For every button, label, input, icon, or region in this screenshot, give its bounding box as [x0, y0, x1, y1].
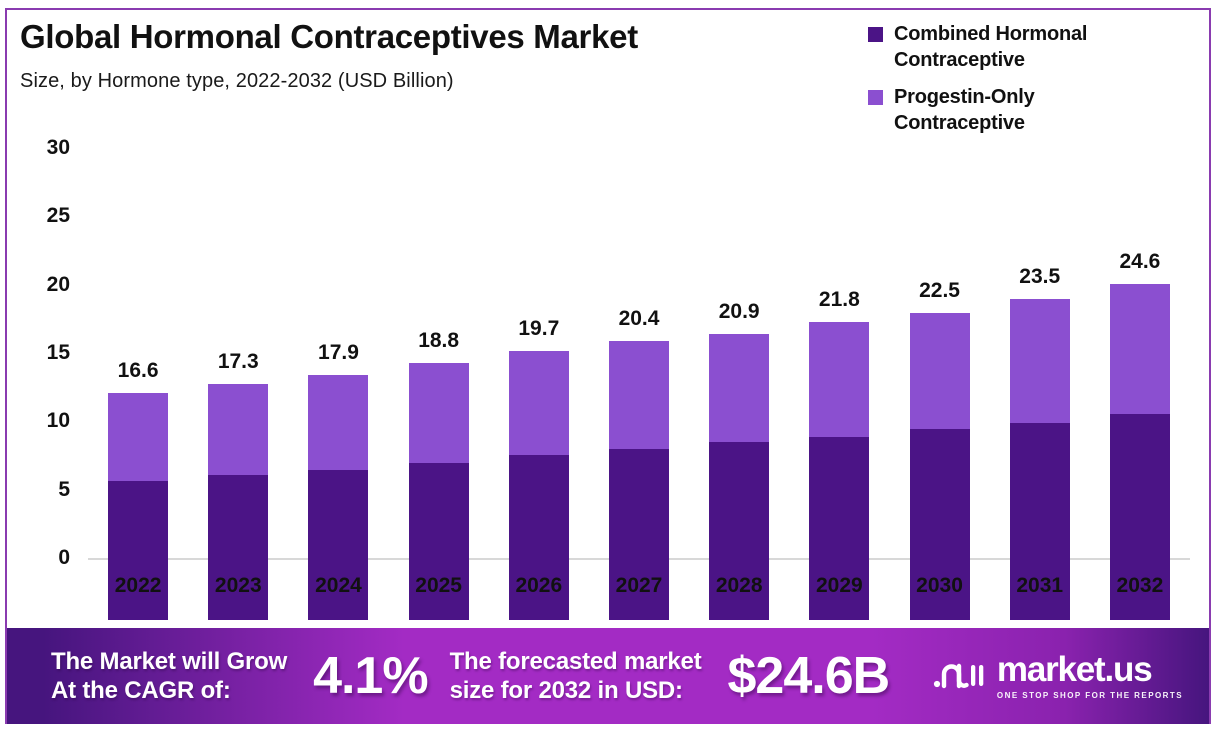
y-axis-tick-label: 15 [24, 341, 70, 365]
y-axis-tick-label: 0 [24, 546, 70, 570]
y-axis-tick-label: 25 [24, 204, 70, 228]
market-us-logo[interactable]: market.us ONE STOP SHOP FOR THE REPORTS [933, 652, 1193, 700]
bar-segment-progestin-only[interactable] [609, 341, 669, 449]
bar-segment-progestin-only[interactable] [809, 322, 869, 437]
bar-segment-progestin-only[interactable] [1010, 299, 1070, 423]
x-axis-tick-label: 2032 [1080, 574, 1200, 598]
infographic-root: Global Hormonal Contraceptives Market Si… [0, 0, 1216, 732]
bar-segment-combined-hormonal[interactable] [208, 475, 268, 620]
forecast-value: $24.6B [728, 646, 890, 706]
forecast-caption-line-2: size for 2032 in USD: [450, 676, 702, 705]
bar-segment-progestin-only[interactable] [910, 313, 970, 429]
bar-group[interactable]: 22.5 [910, 62, 970, 620]
y-axis-tick-label: 5 [24, 478, 70, 502]
market-us-logomark-icon [933, 656, 987, 697]
chart-plot-area: 16.6202217.3202317.9202418.8202519.72026… [0, 0, 1216, 620]
bar-segment-progestin-only[interactable] [709, 334, 769, 442]
forecast-caption-line-1: The forecasted market [450, 647, 702, 676]
logo-tagline: ONE STOP SHOP FOR THE REPORTS [997, 691, 1183, 700]
y-axis-tick-label: 10 [24, 409, 70, 433]
bar-group[interactable]: 18.8 [409, 62, 469, 620]
cagr-caption-line-1: The Market will Grow [51, 647, 287, 676]
bar-segment-progestin-only[interactable] [409, 363, 469, 463]
bar-value-label: 24.6 [1080, 250, 1200, 274]
bar-segment-combined-hormonal[interactable] [108, 481, 168, 620]
bar-group[interactable]: 24.6 [1110, 62, 1170, 620]
footer-banner: The Market will Grow At the CAGR of: 4.1… [7, 628, 1209, 724]
cagr-value: 4.1% [313, 646, 428, 706]
bar-segment-progestin-only[interactable] [509, 351, 569, 455]
y-axis-tick-label: 20 [24, 273, 70, 297]
y-axis-tick-label: 30 [24, 136, 70, 160]
bar-group[interactable]: 16.6 [108, 62, 168, 620]
forecast-caption: The forecasted market size for 2032 in U… [450, 647, 702, 706]
bar-segment-progestin-only[interactable] [308, 375, 368, 469]
bar-group[interactable]: 19.7 [509, 62, 569, 620]
bar-segment-progestin-only[interactable] [208, 384, 268, 476]
bar-segment-progestin-only[interactable] [108, 393, 168, 480]
bar-group[interactable]: 17.9 [308, 62, 368, 620]
bar-segment-progestin-only[interactable] [1110, 284, 1170, 414]
bar-group[interactable]: 20.9 [709, 62, 769, 620]
bar-group[interactable]: 20.4 [609, 62, 669, 620]
cagr-caption: The Market will Grow At the CAGR of: [51, 647, 287, 706]
bar-group[interactable]: 21.8 [809, 62, 869, 620]
logo-wordmark: market.us [997, 652, 1183, 687]
bar-group[interactable]: 17.3 [208, 62, 268, 620]
cagr-caption-line-2: At the CAGR of: [51, 676, 287, 705]
bar-series-container: 16.6202217.3202317.9202418.8202519.72026… [88, 0, 1190, 620]
bar-group[interactable]: 23.5 [1010, 62, 1070, 620]
